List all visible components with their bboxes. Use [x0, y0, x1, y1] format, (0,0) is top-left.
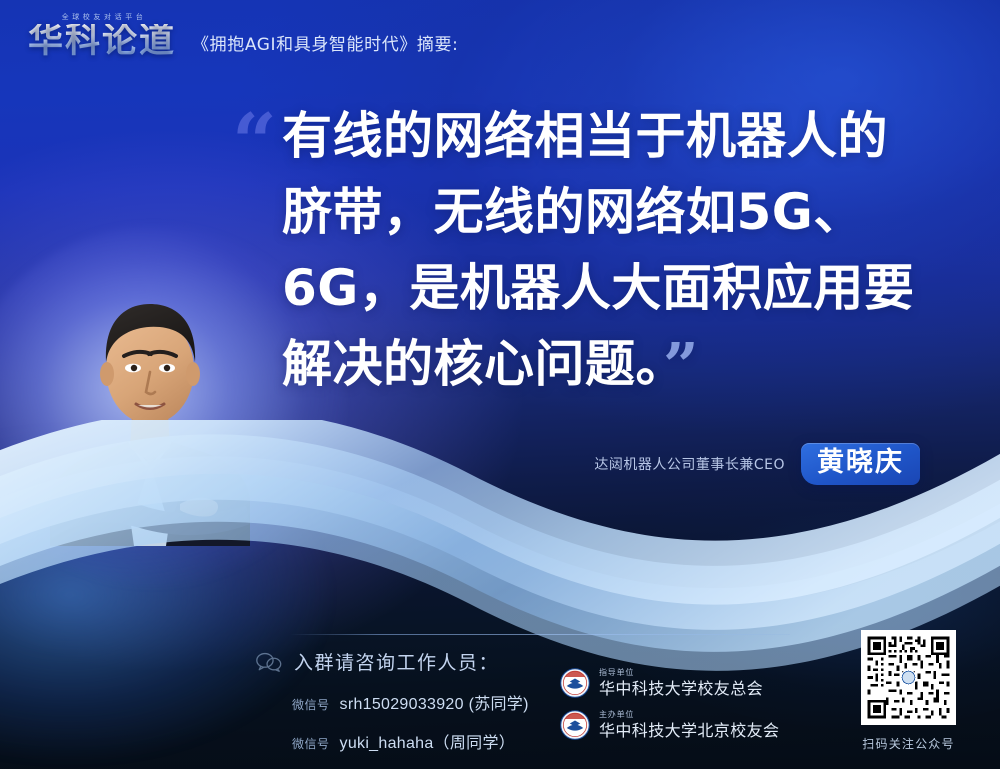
organization-kicker-1: 指导单位 [599, 669, 763, 678]
wechat-label-1: 微信号 [292, 696, 330, 713]
wechat-icon [256, 652, 282, 672]
logo-tagline: 全球校友对话平台 [58, 12, 147, 22]
brand-logo: 全球校友对话平台 华科论道 [28, 12, 176, 59]
organization-kicker-2: 主办单位 [599, 711, 779, 720]
organization-name-1: 华中科技大学校友总会 [599, 680, 763, 698]
organization-texts-guidance: 指导单位 华中科技大学校友总会 [599, 669, 763, 697]
organization-texts-host: 主办单位 华中科技大学北京校友会 [599, 711, 779, 739]
quote-block: 有线的网络相当于机器人的 脐带，无线的网络如5G、 6G，是机器人大面积应用要 … [282, 98, 942, 404]
poster-canvas: 全球校友对话平台 华科论道 《拥抱AGI和具身智能时代》摘要: [0, 0, 1000, 769]
footer-divider [290, 634, 790, 635]
quote-line-3: 6G，是机器人大面积应用要 [282, 250, 942, 326]
university-seal-icon [560, 668, 590, 698]
contact-section: 入群请咨询工作人员： 微信号 srh15029033920 (苏同学) 微信号 … [256, 648, 529, 753]
wechat-id-2: yuki_hahaha（周同学） [340, 729, 516, 753]
qr-caption: 扫码关注公众号 [861, 735, 956, 752]
logo-wordmark: 华科论道 [28, 24, 176, 59]
organization-row-guidance: 指导单位 华中科技大学校友总会 [560, 668, 779, 698]
organization-name-2: 华中科技大学北京校友会 [599, 722, 779, 740]
qr-section: 扫码关注公众号 [861, 630, 956, 752]
speaker-role: 达闼机器人公司董事长兼CEO [594, 454, 785, 474]
quote-line-2: 脐带，无线的网络如5G、 [282, 174, 942, 250]
contact-title: 入群请咨询工作人员： [294, 648, 499, 675]
quote-line-1: 有线的网络相当于机器人的 [282, 98, 942, 174]
contact-row-2: 微信号 yuki_hahaha（周同学） [256, 729, 529, 753]
speaker-name-badge: 黄晓庆 [801, 443, 920, 485]
quote-close-mark: ” [663, 329, 699, 402]
university-seal-icon [560, 710, 590, 740]
contact-row-1: 微信号 srh15029033920 (苏同学) [256, 690, 529, 714]
quote-line-4-text: 解决的核心问题。 [282, 335, 661, 393]
header: 全球校友对话平台 华科论道 《拥抱AGI和具身智能时代》摘要: [28, 12, 458, 59]
page-title: 《拥抱AGI和具身智能时代》摘要: [192, 30, 458, 59]
wechat-id-1: srh15029033920 (苏同学) [340, 690, 529, 714]
organizations-section: 指导单位 华中科技大学校友总会 主办单位 华中科技大学北京校友会 [560, 668, 779, 752]
organization-row-host: 主办单位 华中科技大学北京校友会 [560, 710, 779, 740]
contact-heading: 入群请咨询工作人员： [256, 648, 529, 675]
wechat-label-2: 微信号 [292, 735, 330, 752]
quote-line-4: 解决的核心问题。” [282, 326, 942, 404]
attribution: 达闼机器人公司董事长兼CEO 黄晓庆 [594, 443, 920, 485]
quote-open-mark: “ [232, 104, 277, 182]
qr-code[interactable] [861, 630, 956, 725]
